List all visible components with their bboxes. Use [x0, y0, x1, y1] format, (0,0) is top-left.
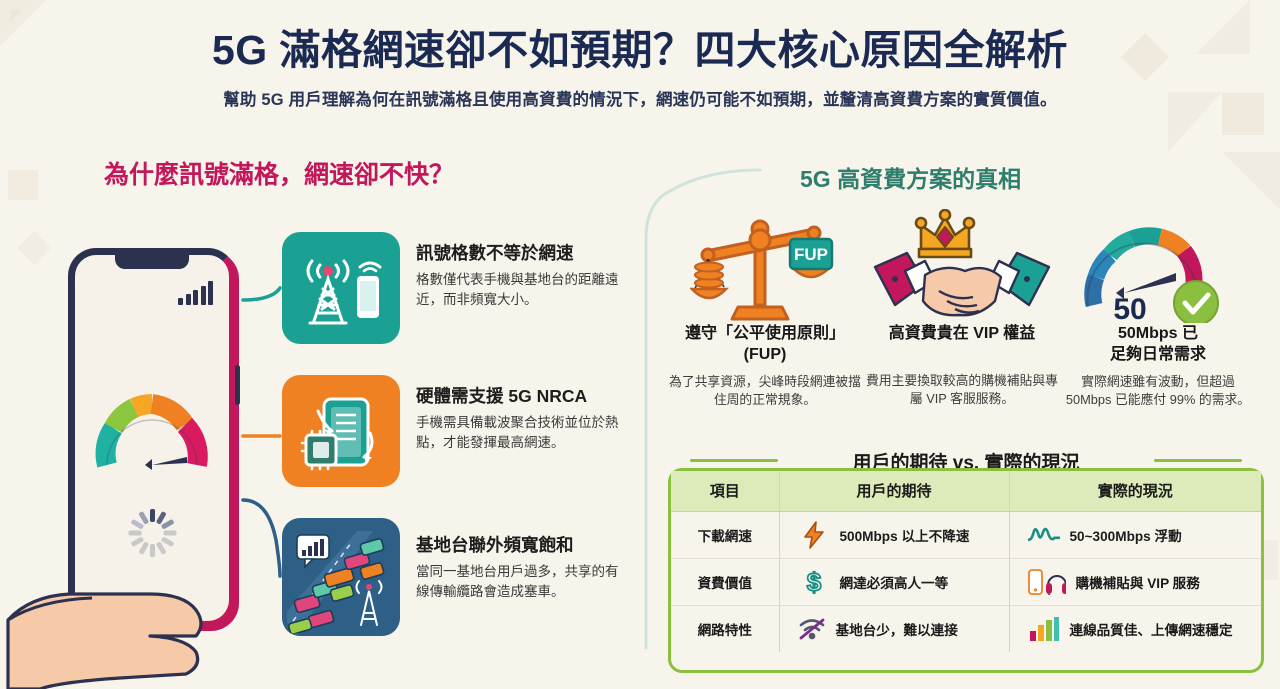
cell-expect-text: 網達必須高人一等: [840, 572, 949, 592]
truth-icon-2: [862, 206, 1062, 324]
truth-icon-1: FUP: [665, 206, 865, 324]
left-section-heading: 為什麼訊號滿格，網速卻不快？: [104, 155, 454, 191]
cell-tower-icon: [298, 249, 384, 327]
reason-text-3: 基地台聯外頻寬飽和 當同一基地台用戶過多，共享的有線傳輸纜路會造成塞車。: [416, 518, 626, 601]
table-row[interactable]: 下載網速 500Mbps 以上不降速: [671, 511, 1261, 558]
cell-expect-text: 500Mbps 以上不降速: [840, 525, 970, 545]
reason-body-1: 格數僅代表手機與基地台的距離遠近，而非頻寬大小。: [416, 270, 626, 309]
right-section-heading: 5G 高資費方案的真相: [800, 160, 1021, 194]
cell-expect: $ 網達必須高人一等: [779, 558, 1009, 605]
handshake-crown-icon: [873, 209, 1051, 321]
cell-real-text: 購機補貼與 VIP 服務: [1076, 572, 1200, 592]
signal-bars-icon: [178, 281, 213, 305]
bg-square-3: [8, 170, 38, 200]
cell-real-text: 連線品質佳、上傳網速穩定: [1070, 619, 1233, 639]
fup-badge-label: FUP: [794, 245, 828, 264]
reason-title-3: 基地台聯外頻寬飽和: [416, 532, 626, 557]
truth-item-2[interactable]: 高資費貴在 VIP 權益 費用主要換取較高的購機補貼與專屬 VIP 客服服務。: [862, 206, 1062, 409]
cell-expect: 基地台少，難以連接: [779, 605, 1009, 652]
dollar-sign-icon: $: [798, 567, 830, 597]
header: 5G 滿格網速卻不如預期？四大核心原因全解析 幫助 5G 用戶理解為何在訊號滿格…: [0, 26, 1280, 110]
th-expect: 用戶的期待: [779, 471, 1009, 511]
comparison-table: 項目 用戶的期待 實際的現況 下載網速: [671, 471, 1261, 652]
reason-item-1[interactable]: 訊號格數不等於網速 格數僅代表手機與基地台的距離遠近，而非頻寬大小。: [282, 232, 626, 344]
chipset-icon: [298, 391, 384, 471]
infographic-canvas: 5G 滿格網速卻不如預期？四大核心原因全解析 幫助 5G 用戶理解為何在訊號滿格…: [0, 0, 1280, 689]
page-title: 5G 滿格網速卻不如預期？四大核心原因全解析: [0, 26, 1280, 74]
truth-body-1: 為了共享資源，尖峰時段網連被擋住周的正常規象。: [665, 373, 865, 410]
bg-triangle-3: [1222, 152, 1280, 210]
truth-body-2: 費用主要換取較高的購機補貼與專屬 VIP 客服服務。: [862, 372, 1062, 409]
th-real: 實際的現況: [1009, 471, 1261, 511]
truth-title-3-line1: 50Mbps 已: [1058, 324, 1258, 345]
truth-title-1: 遵守「公平使用原則」 (FUP): [665, 324, 865, 366]
bar-chart-icon: [1028, 617, 1060, 641]
truth-title-2-line1: 高資費貴在 VIP 權益: [862, 324, 1062, 345]
truth-title-1-line1: 遵守「公平使用原則」: [665, 324, 865, 345]
waveform-icon: [1028, 524, 1060, 546]
reason-title-1: 訊號格數不等於網速: [416, 240, 626, 265]
hand-illustration: [0, 470, 300, 689]
reason-item-3[interactable]: 基地台聯外頻寬飽和 當同一基地台用戶過多，共享的有線傳輸纜路會造成塞車。: [282, 518, 626, 636]
cell-item: 網路特性: [671, 605, 779, 652]
no-signal-icon: [798, 617, 826, 641]
th-item: 項目: [671, 471, 779, 511]
reason-text-1: 訊號格數不等於網速 格數僅代表手機與基地台的距離遠近，而非頻寬大小。: [416, 232, 626, 309]
truth-body-3: 實際網速雖有波動，但超過 50Mbps 已能應付 99% 的需求。: [1058, 373, 1258, 410]
phone-headset-icon: [1028, 569, 1066, 595]
cell-item: 下載網速: [671, 511, 779, 558]
reason-body-3: 當同一基地台用戶過多，共享的有線傳輸纜路會造成塞車。: [416, 562, 626, 601]
truth-item-3[interactable]: 50 50Mbps 已 足夠日常需求 實際網速雖有波動，但超過 50Mbps 已…: [1058, 206, 1258, 410]
phone-notch: [115, 255, 189, 269]
phone-side-button: [235, 365, 240, 405]
reason-item-2[interactable]: 硬體需支援 5G NRCA 手機需具備載波聚合技術並位於熱點，才能發揮最高網速。: [282, 375, 626, 487]
reason-icon-card-1: [282, 232, 400, 344]
cell-item: 資費價值: [671, 558, 779, 605]
truth-title-2: 高資費貴在 VIP 權益: [862, 324, 1062, 345]
truth-icon-3: 50: [1058, 206, 1258, 324]
reason-icon-card-3: [282, 518, 400, 636]
speedometer-gauge-icon: [87, 373, 217, 483]
svg-text:$: $: [806, 567, 821, 597]
page-subtitle: 幫助 5G 用戶理解為何在訊號滿格且使用高資費的情況下，網速仍可能不如預期，並釐…: [0, 86, 1280, 110]
truth-title-3: 50Mbps 已 足夠日常需求: [1058, 324, 1258, 366]
cell-real: 50~300Mbps 浮動: [1009, 511, 1261, 558]
reason-text-2: 硬體需支援 5G NRCA 手機需具備載波聚合技術並位於熱點，才能發揮最高網速。: [416, 375, 626, 452]
lightning-bolt-icon: [798, 521, 830, 549]
traffic-jam-icon: [287, 521, 395, 633]
table-row[interactable]: 網路特性: [671, 605, 1261, 652]
cell-expect: 500Mbps 以上不降速: [779, 511, 1009, 558]
bg-square-5: [17, 231, 51, 265]
gauge-value-label: 50: [1113, 293, 1146, 323]
speedometer-check-icon: 50: [1072, 207, 1244, 323]
table-row[interactable]: 資費價值 $ 網達必須高人一等: [671, 558, 1261, 605]
cell-real: 購機補貼與 VIP 服務: [1009, 558, 1261, 605]
truth-title-1-line2: (FUP): [665, 345, 865, 366]
cell-expect-text: 基地台少，難以連接: [836, 619, 958, 639]
balance-scale-icon: FUP: [690, 207, 840, 323]
reason-body-2: 手機需具備載波聚合技術並位於熱點，才能發揮最高網速。: [416, 413, 626, 452]
table-header-row: 項目 用戶的期待 實際的現況: [671, 471, 1261, 511]
truth-item-1[interactable]: FUP 遵守「公平使用原則」 (FUP) 為了共享資源，尖峰時段網連被擋住周的正…: [665, 206, 865, 410]
reason-icon-card-2: [282, 375, 400, 487]
reason-title-2: 硬體需支援 5G NRCA: [416, 383, 626, 408]
cell-real: 連線品質佳、上傳網速穩定: [1009, 605, 1261, 652]
comparison-panel: 項目 用戶的期待 實際的現況 下載網速: [668, 468, 1264, 673]
truth-title-3-line2: 足夠日常需求: [1058, 345, 1258, 366]
cell-real-text: 50~300Mbps 浮動: [1070, 525, 1182, 545]
